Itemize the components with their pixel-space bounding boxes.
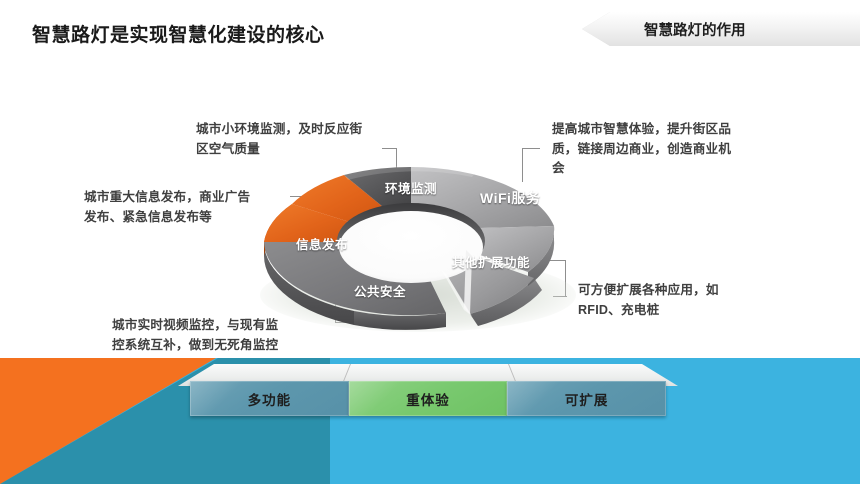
callout-wifi-line1: 提高城市智慧体验，提升街区品 <box>552 120 812 140</box>
callout-expansion-line1: 可方便扩展各种应用，如 <box>578 281 719 301</box>
pillar-tile-experience[interactable]: 重体验 <box>349 381 508 416</box>
tile-highlight-multifunction <box>190 381 242 416</box>
pillar-tile-multifunction[interactable]: 多功能 <box>190 381 349 416</box>
pillar-tile-label-multifunction: 多功能 <box>248 389 292 409</box>
leader-line-wifi-horizontal <box>522 148 540 149</box>
pillars-platform: 多功能 重体验 可扩展 <box>178 364 678 416</box>
donut-segment-label-public-safety: 公共安全 <box>354 281 406 300</box>
pillar-tile-label-experience: 重体验 <box>406 389 450 409</box>
callout-expansion-line2: RFID、充电桩 <box>578 301 719 321</box>
callout-information-line1: 城市重大信息发布，商业广告 <box>84 188 250 208</box>
callout-expansion: 可方便扩展各种应用，如 RFID、充电桩 <box>578 281 719 320</box>
pillar-tile-label-extensible: 可扩展 <box>565 389 609 409</box>
leader-line-environment-horizontal <box>382 148 397 149</box>
page-title: 智慧路灯是实现智慧化建设的核心 <box>32 20 325 47</box>
donut-segment-label-info-release: 信息发布 <box>296 234 348 253</box>
header-badge-label: 智慧路灯的作用 <box>644 12 746 46</box>
pillar-tile-extensible[interactable]: 可扩展 <box>507 381 666 416</box>
slide-canvas: 智慧路灯是实现智慧化建设的核心 智慧路灯的作用 城市小环境监测，及时反应街 区空… <box>0 0 860 484</box>
callout-information-line2: 发布、紧急信息发布等 <box>84 208 250 228</box>
donut-segment-label-environment: 环境监测 <box>385 178 437 197</box>
donut-segment-label-other-expand: 其他扩展功能 <box>452 252 530 271</box>
callout-wifi-line2: 质，链接周边商业，创造商业机 <box>552 140 812 160</box>
tile-highlight-experience <box>349 381 401 416</box>
callout-wifi: 提高城市智慧体验，提升街区品 质，链接周边商业，创造商业机 会 <box>552 120 812 179</box>
callout-environment-line1: 城市小环境监测，及时反应街 <box>196 120 362 140</box>
donut-segment-label-wifi: WiFi服务 <box>480 188 540 208</box>
tile-highlight-extensible <box>507 381 559 416</box>
header-badge: 智慧路灯的作用 <box>582 12 860 46</box>
pillar-tiles: 多功能 重体验 可扩展 <box>190 381 666 416</box>
callout-information: 城市重大信息发布，商业广告 发布、紧急信息发布等 <box>84 188 250 227</box>
callout-wifi-line3: 会 <box>552 159 812 179</box>
